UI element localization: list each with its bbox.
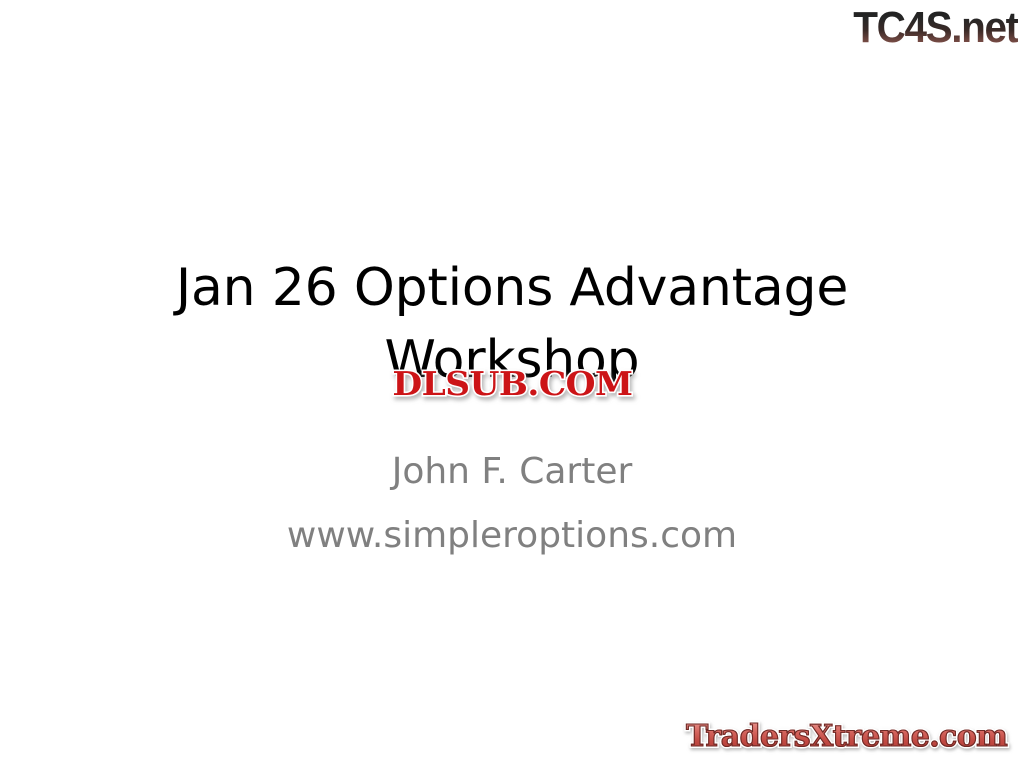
tc4s-logo: TC4S.net xyxy=(828,2,1018,54)
title-line-1: Jan 26 Options Advantage xyxy=(120,252,904,324)
tradersxtreme-watermark: TradersXtreme.com TradersXtreme.com xyxy=(686,714,1020,760)
subtitle-website: www.simpleroptions.com xyxy=(120,504,904,568)
dlsub-watermark-text: DLSUB.COM xyxy=(392,367,632,400)
tradersxtreme-watermark-text: TradersXtreme.com xyxy=(686,722,1007,752)
dlsub-watermark: DLSUB.COM xyxy=(366,362,658,404)
presentation-slide: TC4S.net Jan 26 Options Advantage Worksh… xyxy=(0,0,1024,768)
tc4s-logo-text: TC4S.net xyxy=(854,6,1018,50)
slide-subtitle: John F. Carter www.simpleroptions.com xyxy=(120,440,904,568)
subtitle-presenter: John F. Carter xyxy=(120,440,904,504)
